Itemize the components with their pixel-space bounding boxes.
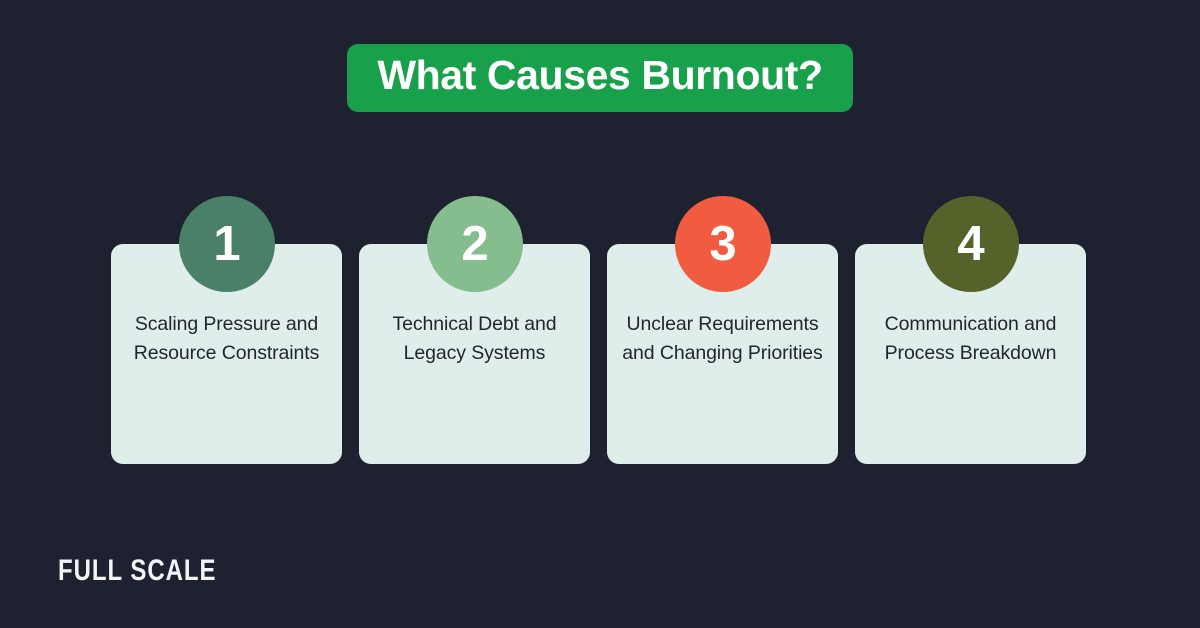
- badge-number-1: 1: [213, 220, 239, 269]
- cause-card-3: 3 Unclear Requirements and Changing Prio…: [607, 244, 838, 464]
- title-banner: What Causes Burnout?: [347, 44, 852, 112]
- cause-card-4: 4 Communication and Process Breakdown: [855, 244, 1086, 464]
- cause-label-4: Communication and Process Breakdown: [865, 310, 1076, 367]
- page-title: What Causes Burnout?: [377, 53, 822, 99]
- cards-row: 1 Scaling Pressure and Resource Constrai…: [111, 244, 1088, 464]
- badge-number-3: 3: [709, 220, 735, 269]
- cause-label-1: Scaling Pressure and Resource Constraint…: [121, 310, 332, 367]
- cause-card-1: 1 Scaling Pressure and Resource Constrai…: [111, 244, 342, 464]
- number-badge-2: 2: [427, 196, 523, 292]
- title-banner-wrap: What Causes Burnout?: [0, 44, 1200, 112]
- badge-number-2: 2: [461, 220, 487, 269]
- badge-number-4: 4: [957, 220, 983, 269]
- full-scale-logo: FULL SCALE: [58, 556, 216, 586]
- number-badge-4: 4: [923, 196, 1019, 292]
- cause-card-2: 2 Technical Debt and Legacy Systems: [359, 244, 590, 464]
- cause-label-2: Technical Debt and Legacy Systems: [369, 310, 580, 367]
- number-badge-3: 3: [675, 196, 771, 292]
- number-badge-1: 1: [179, 196, 275, 292]
- cause-label-3: Unclear Requirements and Changing Priori…: [617, 310, 828, 367]
